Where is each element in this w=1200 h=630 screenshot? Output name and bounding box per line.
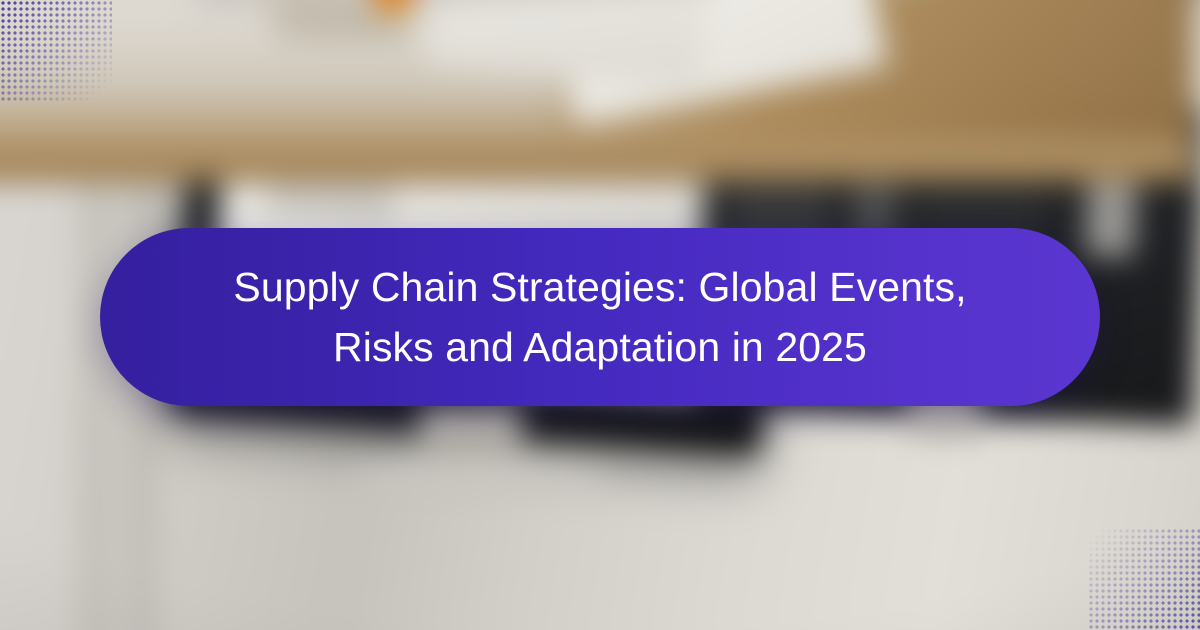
og-image-canvas: Supply Chain Strategies: Global Events, … [0,0,1200,630]
title-banner: Supply Chain Strategies: Global Events, … [100,228,1100,406]
page-title: Supply Chain Strategies: Global Events, … [233,257,966,377]
